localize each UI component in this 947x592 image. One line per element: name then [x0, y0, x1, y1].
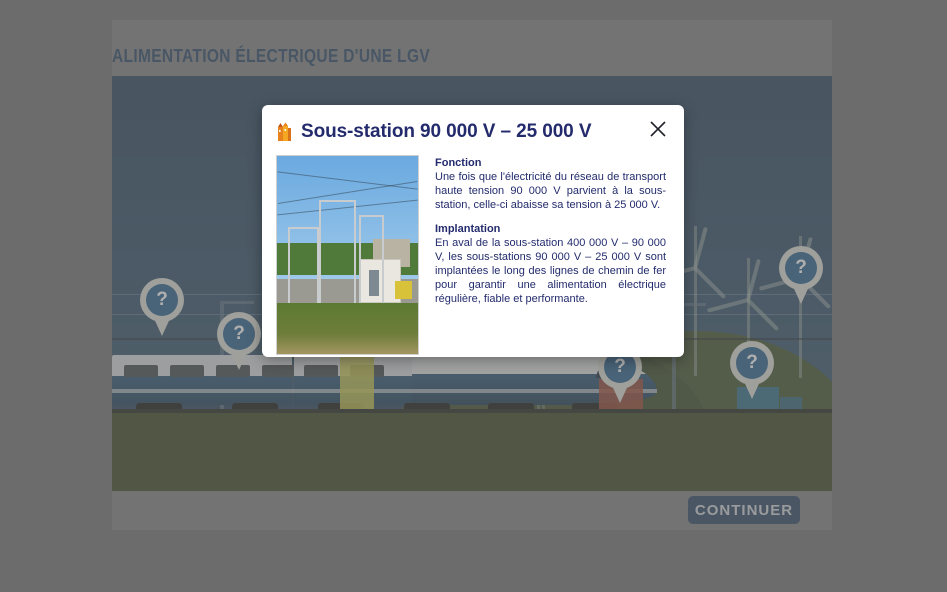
- close-icon[interactable]: [646, 117, 670, 141]
- map-pin[interactable]: ?: [140, 278, 184, 336]
- substation-icon: [276, 122, 293, 142]
- app-root: ALIMENTATION ÉLECTRIQUE D'UNE LGV: [0, 0, 947, 592]
- pin-label: ?: [223, 318, 255, 350]
- modal-header: Sous-station 90 000 V – 25 000 V: [276, 117, 666, 147]
- section-heading: Implantation: [435, 223, 666, 235]
- map-pin[interactable]: ?: [730, 341, 774, 399]
- equipment-cabinet: [340, 351, 374, 413]
- section-text: En aval de la sous-station 400 000 V – 9…: [435, 236, 666, 306]
- continue-button[interactable]: CONTINUER: [688, 496, 800, 524]
- map-pin[interactable]: ?: [217, 312, 261, 370]
- pin-label: ?: [146, 284, 178, 316]
- train-car: [112, 355, 292, 405]
- modal-body: Fonction Une fois que l'électricité du r…: [276, 155, 666, 355]
- pin-label: ?: [785, 252, 817, 284]
- section-heading: Fonction: [435, 157, 666, 169]
- map-pin[interactable]: ?: [779, 246, 823, 304]
- modal-title: Sous-station 90 000 V – 25 000 V: [301, 121, 591, 143]
- info-modal: Sous-station 90 000 V – 25 000 V: [262, 105, 684, 357]
- section-text: Une fois que l'électricité du réseau de …: [435, 170, 666, 212]
- pin-label: ?: [736, 347, 768, 379]
- modal-text-column: Fonction Une fois que l'électricité du r…: [419, 155, 666, 355]
- ground: [112, 413, 832, 491]
- train-stripe: [112, 389, 657, 393]
- page-title: ALIMENTATION ÉLECTRIQUE D'UNE LGV: [112, 46, 430, 67]
- substation-photo: [276, 155, 419, 355]
